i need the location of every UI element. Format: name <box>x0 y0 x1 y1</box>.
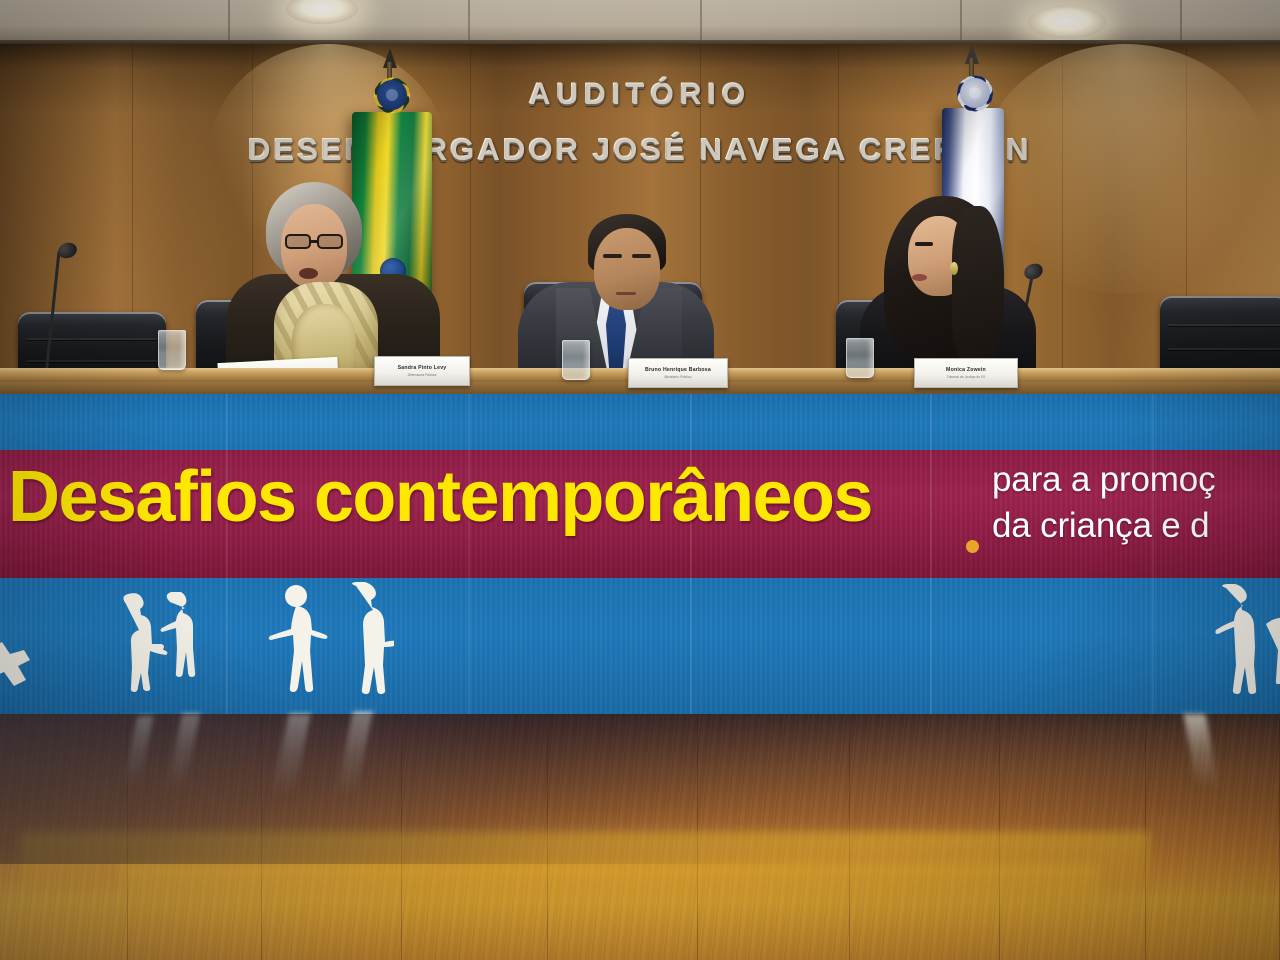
panelist-right-brow <box>915 242 933 246</box>
panelist-right-hair-front <box>952 206 1004 366</box>
banner-bullet-dot <box>966 540 979 553</box>
panelist-right-mouth <box>912 274 927 281</box>
banner-subline-1: para a promoç <box>992 460 1215 500</box>
water-glass-left <box>158 330 186 370</box>
ceiling-light-right <box>1028 6 1106 38</box>
nameplate-center-role: Ministério Público <box>664 375 691 379</box>
auditorium-title-line-2: DESEMBARGADOR JOSÉ NAVEGA CREPTON <box>0 132 1280 168</box>
nameplate-center-name: Bruno Henrique Barbosa <box>645 367 711 373</box>
panelist-left-mouth <box>299 268 318 279</box>
banner-silhouette-tumbling <box>0 640 40 688</box>
rio-flag-rosette <box>938 56 1012 130</box>
panelist-center-brow-left <box>603 254 622 258</box>
banner-band-blue-top <box>0 394 1280 452</box>
nameplate-center: Bruno Henrique Barbosa Ministério Públic… <box>628 358 728 388</box>
auditorium-title-line-1: AUDITÓRIO <box>0 78 1280 112</box>
nameplate-left-role: Defensoria Pública <box>408 373 437 377</box>
panelist-center-brow-right <box>632 254 651 258</box>
nameplate-right-role: Tribunal de Justiça do RJ <box>947 375 986 379</box>
event-banner: Desafios contemporâneos para a promoç da… <box>0 394 1280 716</box>
banner-silhouette-holding-hands <box>108 592 200 696</box>
water-glass-center <box>562 340 590 380</box>
banner-silhouette-walking-left <box>330 582 394 694</box>
banner-subline-2: da criança e d <box>992 506 1209 546</box>
panelist-left-glasses <box>285 234 345 249</box>
water-glass-right <box>846 338 874 378</box>
nameplate-left-name: Sandra Pinto Levy <box>398 365 447 371</box>
nameplate-right-name: Monica Zowein <box>946 367 986 373</box>
panelist-right-earring <box>950 262 958 275</box>
nameplate-right: Monica Zowein Tribunal de Justiça do RJ <box>914 358 1018 388</box>
nameplate-left: Sandra Pinto Levy Defensoria Pública <box>374 356 470 386</box>
brazil-flag-rosette <box>355 58 429 132</box>
auditorium-photo: AUDITÓRIO DESEMBARGADOR JOSÉ NAVEGA CREP… <box>0 0 1280 960</box>
parquet-floor <box>0 714 1280 960</box>
panelist-center-face <box>594 228 660 310</box>
banner-silhouette-walking-right <box>1198 584 1266 696</box>
banner-silhouette-reaching-right <box>1262 594 1280 684</box>
panelist-center-mouth <box>616 292 636 295</box>
banner-headline: Desafios contemporâneos <box>8 456 872 538</box>
banner-silhouette-arms-out <box>256 584 332 694</box>
